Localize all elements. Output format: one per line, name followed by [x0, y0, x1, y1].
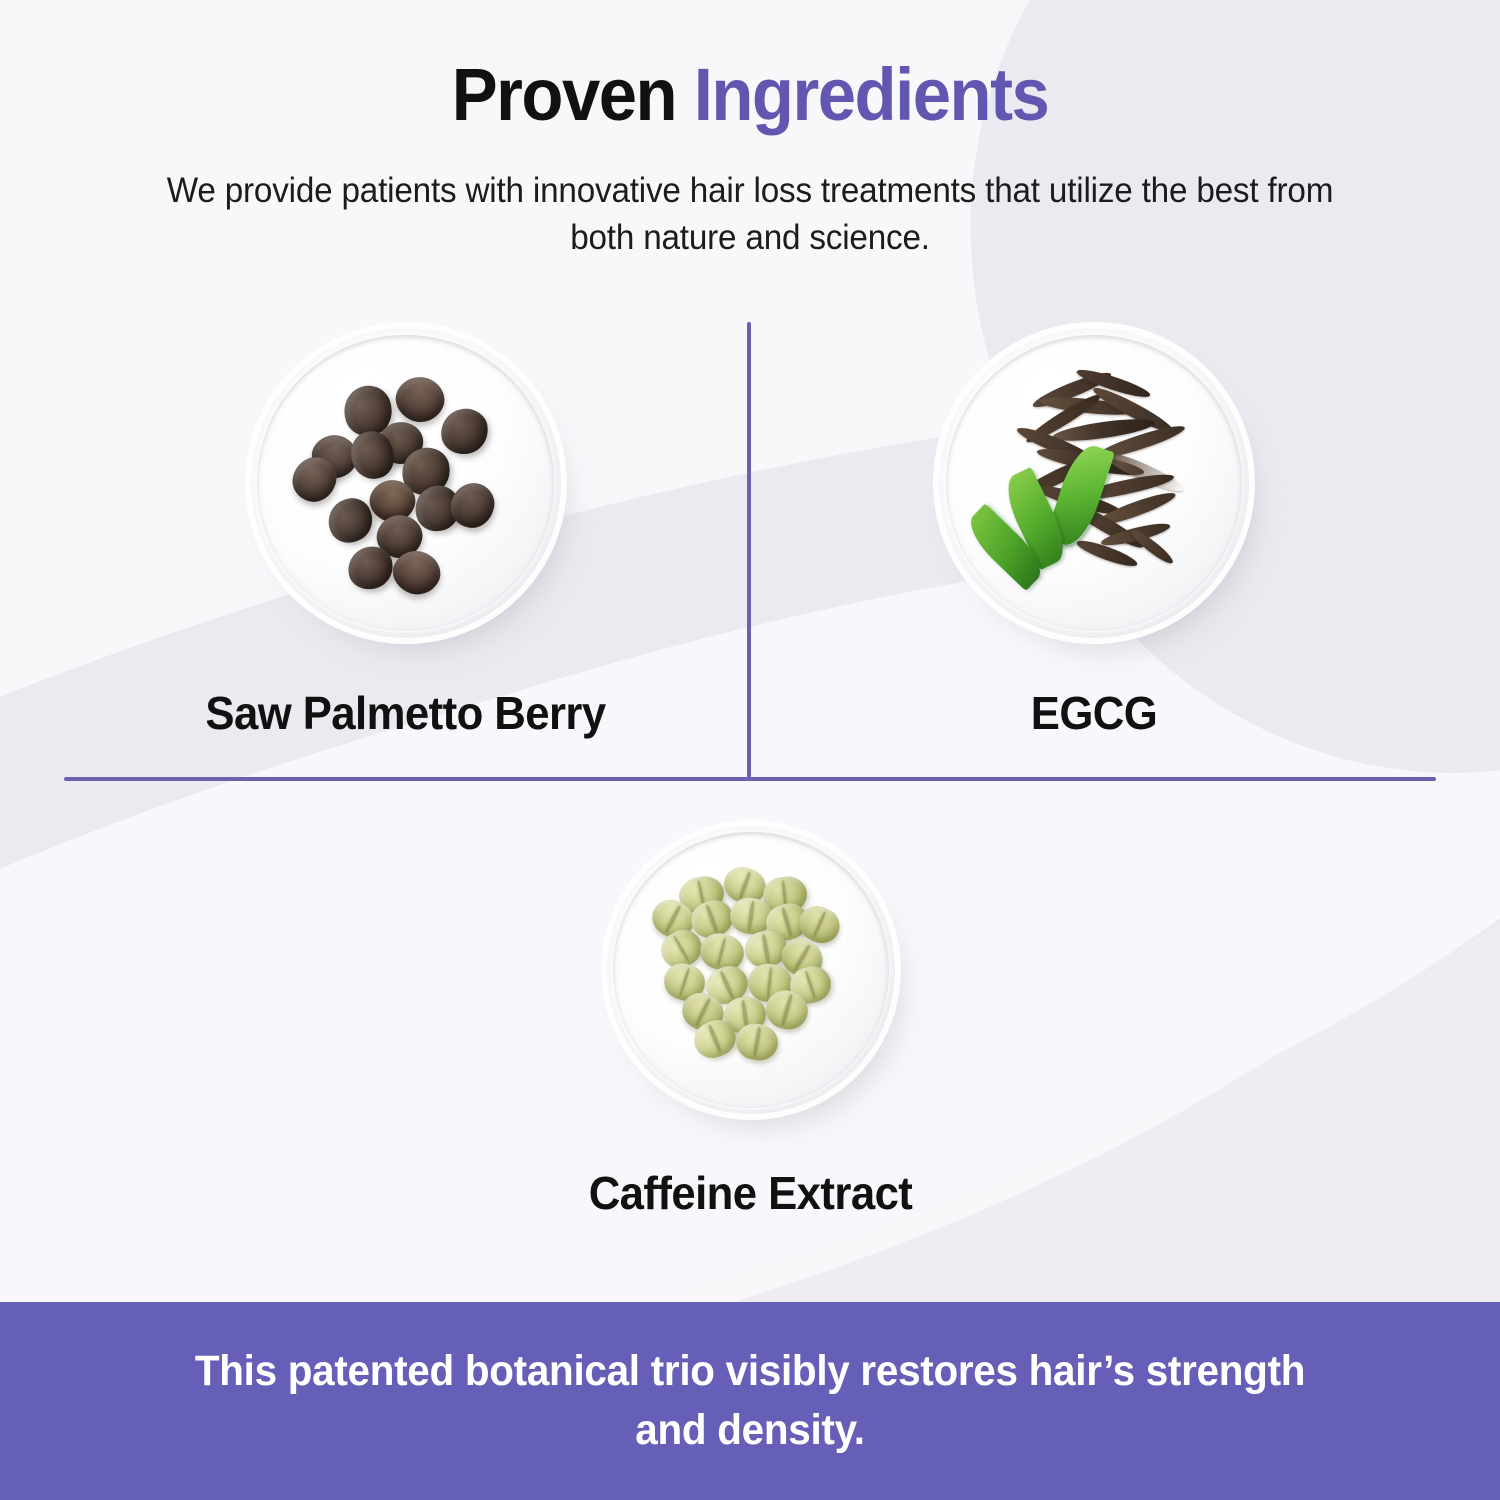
- ingredient-card-caffeine-extract: Caffeine Extract: [409, 820, 1092, 1220]
- dish-rim: [245, 322, 567, 644]
- dish-rim: [933, 322, 1255, 644]
- petri-dish-caffeine-extract-icon: [601, 820, 901, 1120]
- footer-banner: This patented botanical trio visibly res…: [0, 1302, 1500, 1500]
- header: Proven Ingredients We provide patients w…: [0, 58, 1500, 261]
- infographic-canvas: Proven Ingredients We provide patients w…: [0, 0, 1500, 1500]
- ingredient-card-saw-palmetto-berry: Saw Palmetto Berry: [64, 322, 747, 740]
- page-title-part-one: Proven: [452, 53, 694, 136]
- page-subtitle: We provide patients with innovative hair…: [137, 168, 1363, 261]
- page-title-part-two: Ingredients: [694, 53, 1049, 136]
- vertical-divider: [747, 322, 751, 780]
- footer-banner-text: This patented botanical trio visibly res…: [177, 1342, 1324, 1461]
- ingredient-label-caffeine-extract: Caffeine Extract: [426, 1166, 1075, 1220]
- page-title: Proven Ingredients: [53, 58, 1448, 132]
- ingredient-label-egcg: EGCG: [769, 686, 1419, 740]
- ingredient-card-egcg: EGCG: [752, 322, 1436, 740]
- horizontal-divider: [64, 777, 1436, 781]
- petri-dish-egcg-icon: [933, 322, 1255, 644]
- ingredient-label-saw-palmetto-berry: Saw Palmetto Berry: [81, 686, 730, 740]
- petri-dish-saw-palmetto-berry-icon: [245, 322, 567, 644]
- dish-rim: [601, 820, 901, 1120]
